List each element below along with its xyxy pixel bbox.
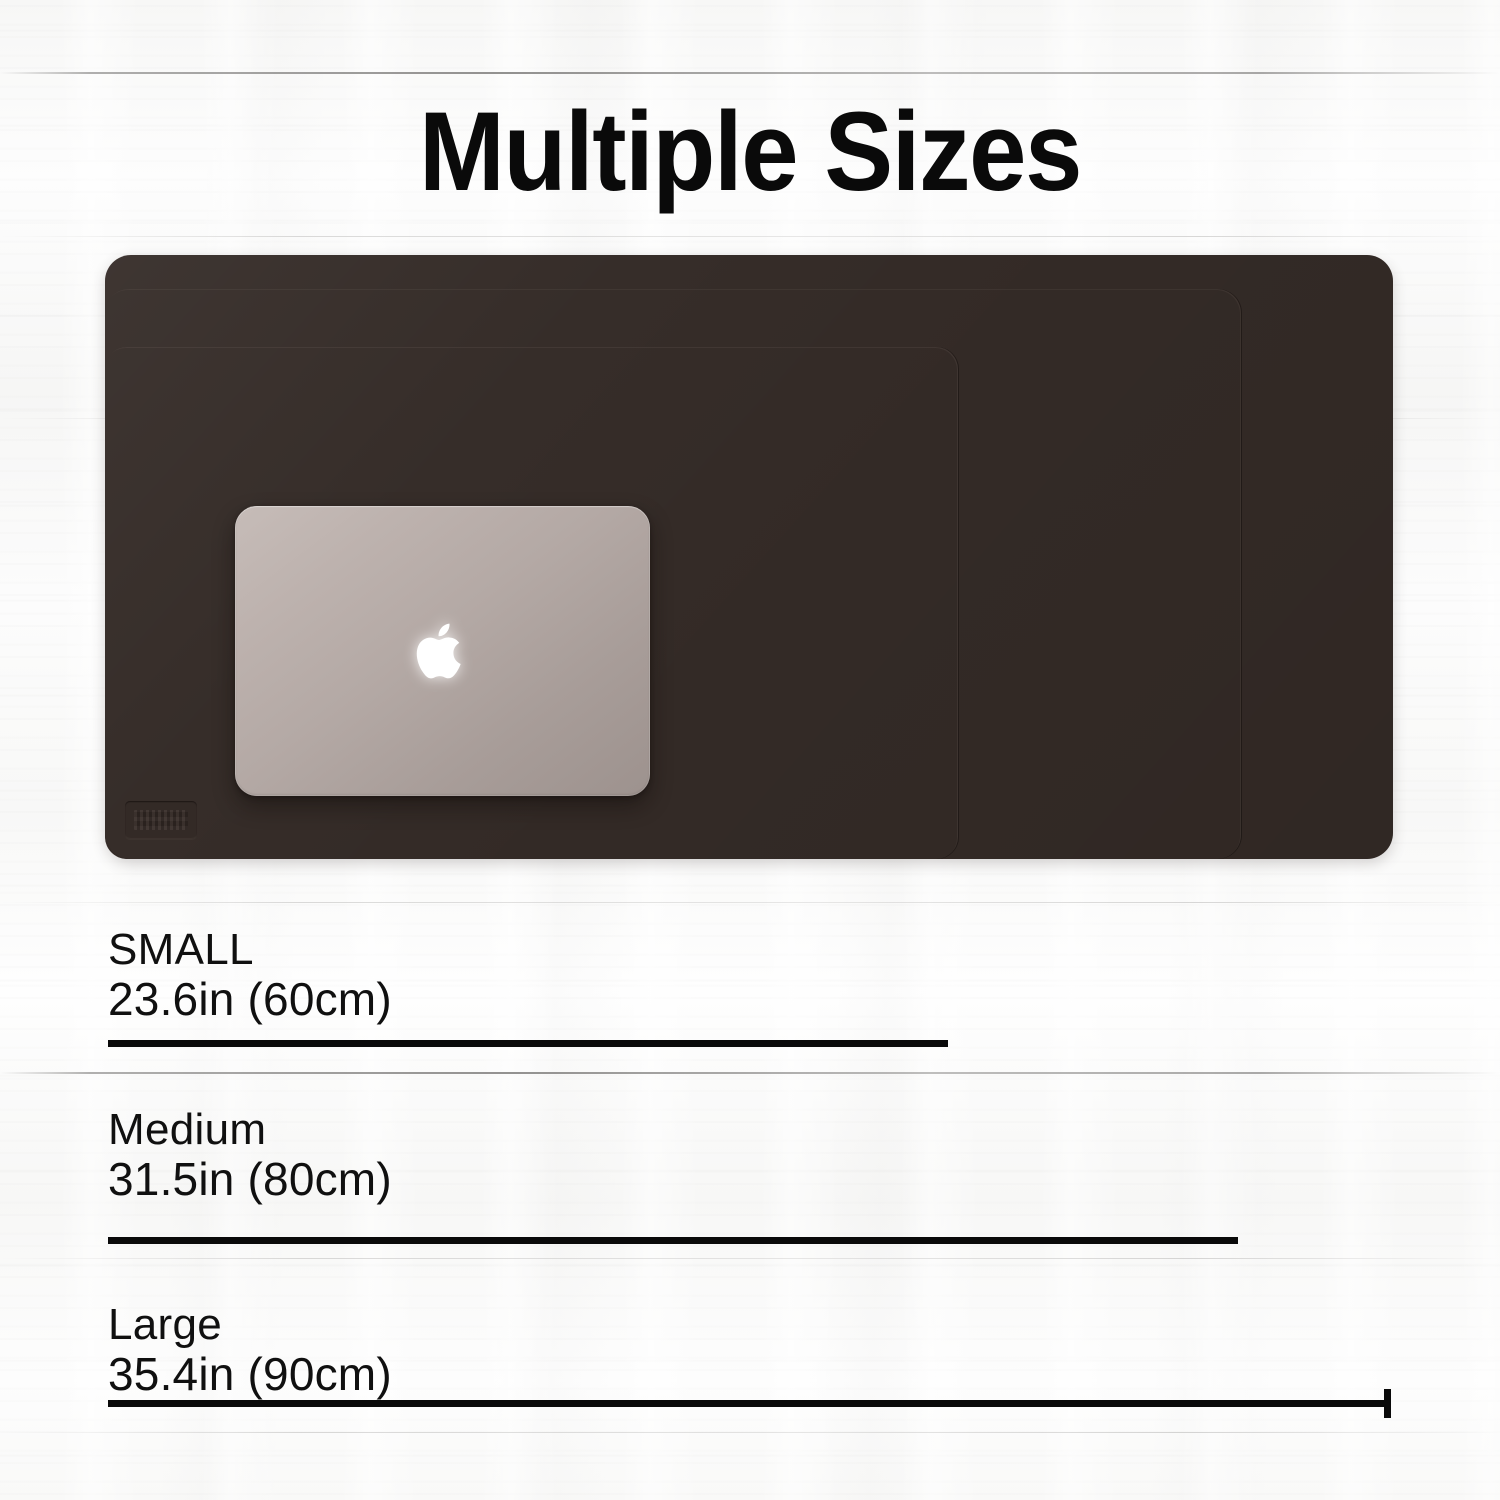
infographic-page: Multiple Sizes SMALL 23.6in (60cm) Mediu… <box>0 0 1500 1500</box>
plank-seam-4 <box>0 902 1500 903</box>
measurement-line-large <box>108 1400 1390 1407</box>
size-name-large: Large <box>108 1300 392 1349</box>
plank-seam-2 <box>0 236 1500 237</box>
plank-seam-7 <box>0 1432 1500 1433</box>
size-row-large: Large 35.4in (90cm) <box>108 1300 392 1401</box>
brand-logo-badge <box>125 801 197 839</box>
measurement-line-medium <box>108 1237 1238 1244</box>
size-dimension-large: 35.4in (90cm) <box>108 1349 392 1401</box>
size-dimension-small: 23.6in (60cm) <box>108 974 392 1026</box>
page-title: Multiple Sizes <box>60 96 1440 208</box>
measurement-line-small <box>108 1040 948 1047</box>
plank-seam-5 <box>0 1072 1500 1074</box>
measurement-endcap-large <box>1384 1389 1391 1418</box>
apple-logo-icon <box>414 616 472 686</box>
plank-seam-1 <box>0 72 1500 74</box>
macbook-laptop <box>235 506 650 796</box>
size-name-small: SMALL <box>108 925 392 974</box>
size-name-medium: Medium <box>108 1105 392 1154</box>
brand-logo-mark <box>134 810 188 830</box>
size-row-small: SMALL 23.6in (60cm) <box>108 925 392 1026</box>
size-row-medium: Medium 31.5in (80cm) <box>108 1105 392 1206</box>
plank-seam-6 <box>0 1258 1500 1259</box>
size-dimension-medium: 31.5in (80cm) <box>108 1154 392 1206</box>
